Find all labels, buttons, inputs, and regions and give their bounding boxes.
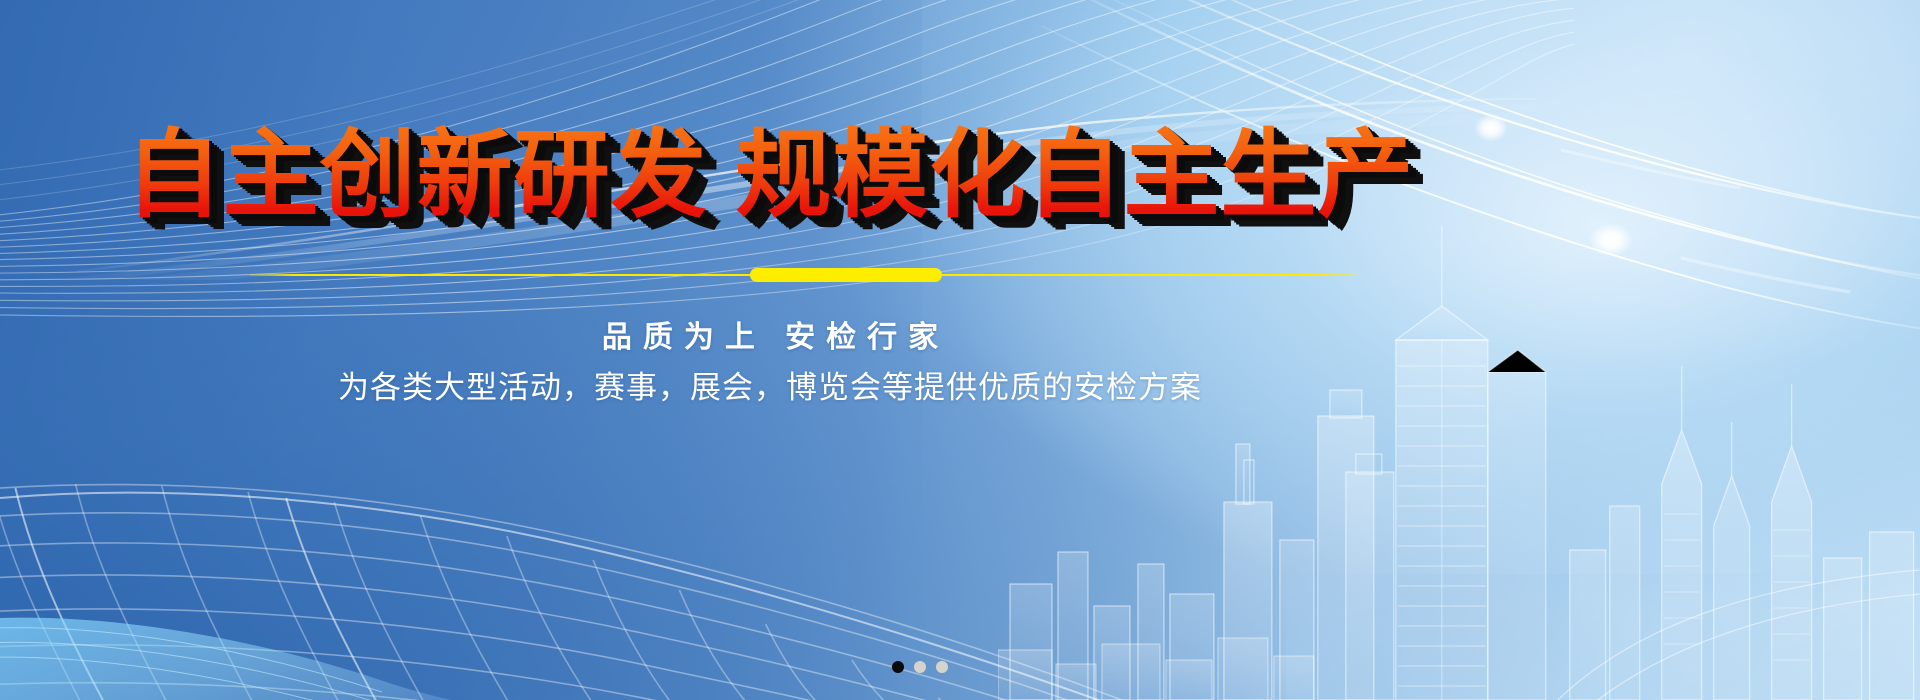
tagline: 品质为上 安检行家 <box>0 312 1540 356</box>
carousel-dot-2[interactable] <box>914 661 926 673</box>
carousel-dot-3[interactable] <box>936 661 948 673</box>
page-title: 自主创新研发 规模化自主生产 <box>0 124 1540 228</box>
banner-content: 自主创新研发 规模化自主生产 品质为上 安检行家 为各类大型活动，赛事，展会，博… <box>0 0 1920 700</box>
carousel-dots[interactable] <box>0 661 1840 673</box>
hero-banner: 自主创新研发 规模化自主生产 品质为上 安检行家 为各类大型活动，赛事，展会，博… <box>0 0 1920 700</box>
carousel-dot-1[interactable] <box>892 661 904 673</box>
description: 为各类大型活动，赛事，展会，博览会等提供优质的安检方案 <box>0 362 1540 407</box>
divider <box>250 268 1356 282</box>
divider-thick-segment <box>750 268 942 282</box>
